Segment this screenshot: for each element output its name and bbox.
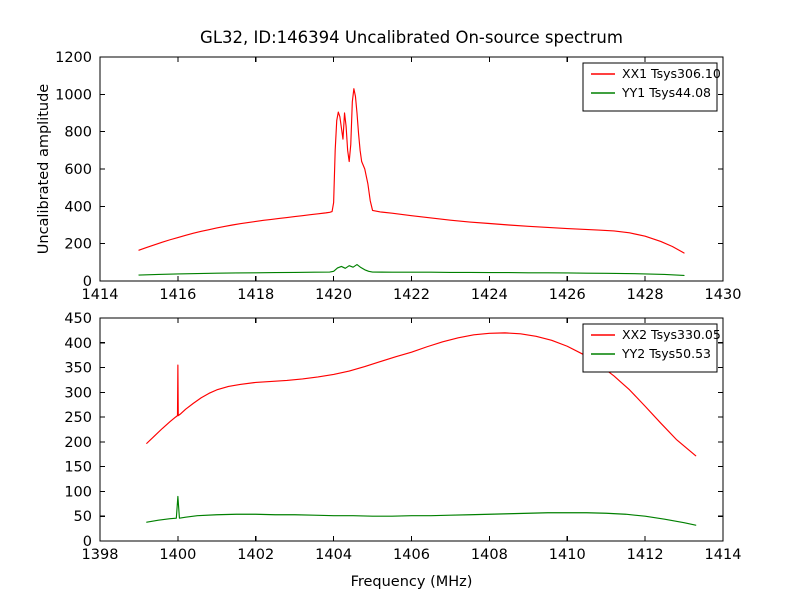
y-tick-label: 800 — [64, 125, 92, 141]
y-tick-label: 350 — [64, 361, 92, 377]
x-tick-label: 1406 — [393, 547, 430, 563]
x-tick-label: 1428 — [627, 287, 664, 303]
y-tick-label: 0 — [83, 534, 92, 550]
trace-xx1 — [139, 89, 684, 253]
panel-bottom-panel: 1398140014021404140614081410141214140501… — [64, 311, 741, 590]
x-tick-label: 1414 — [705, 547, 742, 563]
legend: XX1 Tsys306.10YY1 Tsys44.08 — [583, 63, 721, 111]
legend: XX2 Tsys330.05YY2 Tsys50.53 — [583, 324, 721, 372]
x-tick-label: 1430 — [705, 287, 742, 303]
x-tick-label: 1426 — [549, 287, 586, 303]
x-tick-label: 1412 — [627, 547, 664, 563]
legend-label: XX1 Tsys306.10 — [622, 66, 721, 81]
y-tick-label: 0 — [83, 274, 92, 290]
y-tick-label: 250 — [64, 410, 92, 426]
y-tick-label: 1000 — [55, 87, 92, 103]
panel-top-panel: 1414141614181420142214241426142814300200… — [36, 28, 741, 303]
x-tick-label: 1400 — [159, 547, 196, 563]
legend-label: XX2 Tsys330.05 — [622, 327, 721, 342]
x-tick-label: 1422 — [393, 287, 430, 303]
y-tick-label: 400 — [64, 199, 92, 215]
x-tick-label: 1418 — [237, 287, 274, 303]
x-tick-label: 1404 — [315, 547, 352, 563]
x-tick-label: 1420 — [315, 287, 352, 303]
render-root: 1414141614181420142214241426142814300200… — [36, 28, 741, 590]
x-tick-label: 1408 — [471, 547, 508, 563]
spectrum-figure: 1414141614181420142214241426142814300200… — [0, 0, 800, 600]
panel-title: GL32, ID:146394 Uncalibrated On-source s… — [200, 28, 623, 47]
y-tick-label: 200 — [64, 435, 92, 451]
x-tick-label: 1402 — [237, 547, 274, 563]
legend-label: YY1 Tsys44.08 — [621, 85, 711, 100]
plot-canvas: 1414141614181420142214241426142814300200… — [0, 0, 800, 600]
y-tick-label: 300 — [64, 385, 92, 401]
y-tick-label: 400 — [64, 336, 92, 352]
x-tick-label: 1416 — [159, 287, 196, 303]
trace-yy1 — [139, 265, 684, 276]
y-tick-label: 1200 — [55, 50, 92, 66]
y-tick-label: 450 — [64, 311, 92, 327]
y-tick-label: 200 — [64, 237, 92, 253]
y-tick-label: 600 — [64, 162, 92, 178]
y-tick-label: 150 — [64, 460, 92, 476]
legend-label: YY2 Tsys50.53 — [621, 346, 711, 361]
x-tick-label: 1424 — [471, 287, 508, 303]
trace-yy2 — [147, 496, 696, 525]
y-tick-label: 50 — [74, 509, 92, 525]
y-axis-label: Uncalibrated amplitude — [36, 84, 52, 255]
x-axis-label: Frequency (MHz) — [351, 574, 473, 590]
y-tick-label: 100 — [64, 484, 92, 500]
x-tick-label: 1410 — [549, 547, 586, 563]
